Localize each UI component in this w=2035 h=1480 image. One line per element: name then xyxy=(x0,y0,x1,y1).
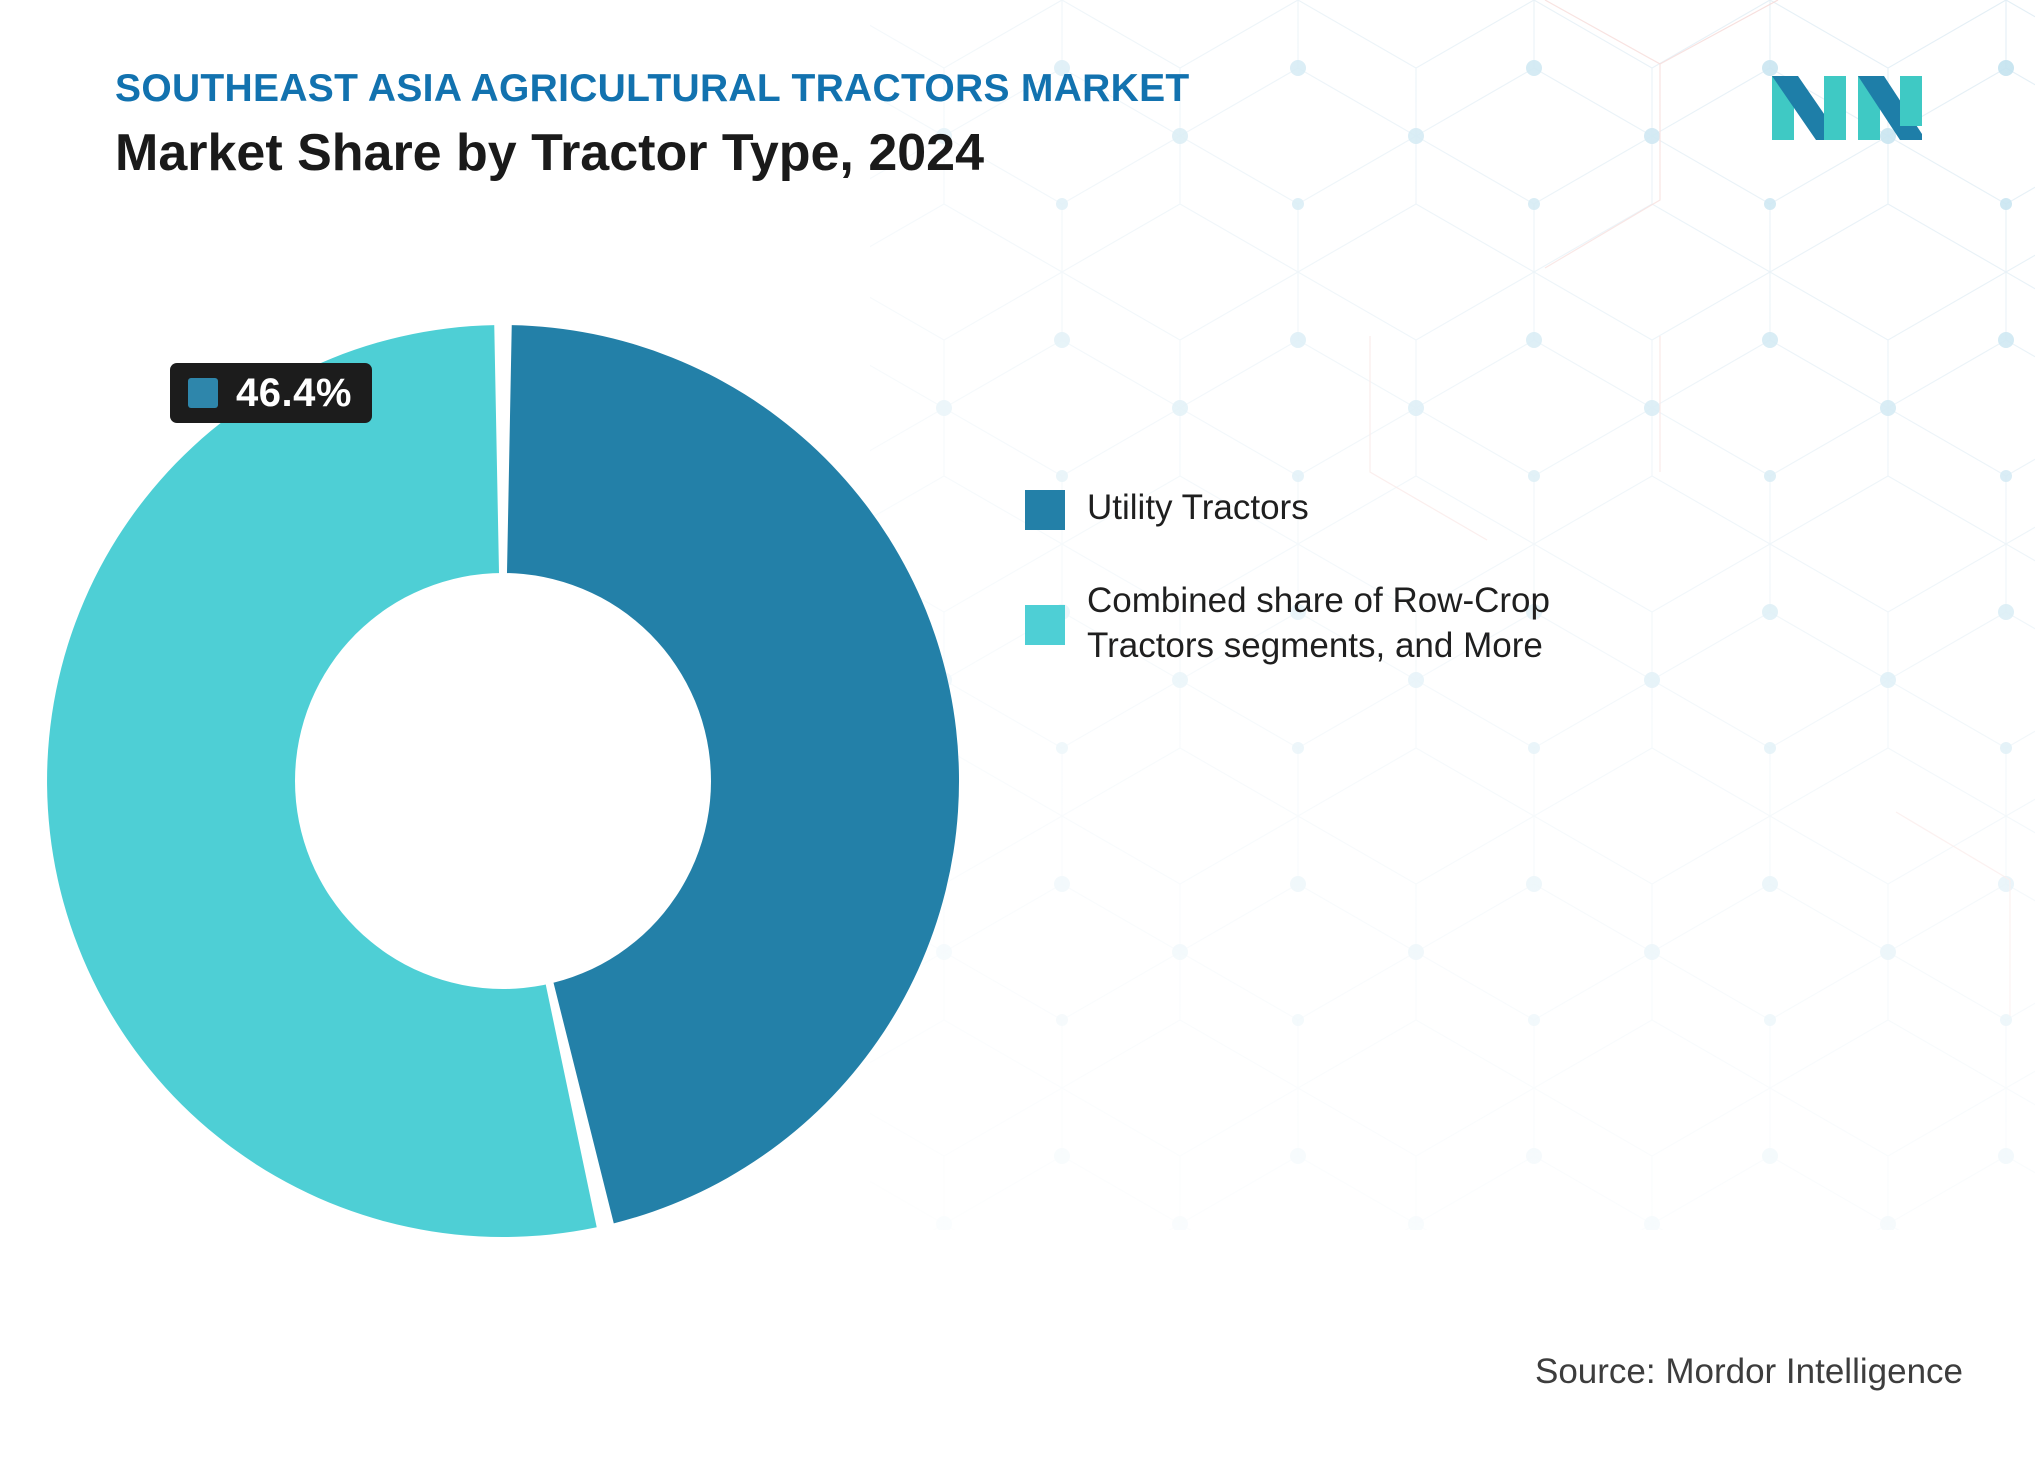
source-attribution: Source: Mordor Intelligence xyxy=(1535,1352,1963,1392)
legend-item-combined-share[interactable]: Combined share of Row-Crop Tractors segm… xyxy=(1025,583,1645,669)
legend-swatch-utility-tractors xyxy=(1025,490,1065,530)
legend-swatch-combined-share xyxy=(1025,605,1065,645)
chart-main-title: Market Share by Tractor Type, 2024 xyxy=(115,125,1415,182)
chart-eyebrow-title: SOUTHEAST ASIA AGRICULTURAL TRACTORS MAR… xyxy=(115,68,1415,111)
callout-value-label: 46.4% xyxy=(236,373,352,413)
donut-chart xyxy=(43,321,963,1241)
callout-color-swatch xyxy=(188,378,218,408)
header: SOUTHEAST ASIA AGRICULTURAL TRACTORS MAR… xyxy=(115,68,1415,182)
legend-label-utility-tractors: Utility Tractors xyxy=(1087,486,1309,531)
value-callout-tooltip[interactable]: 46.4% xyxy=(170,363,372,423)
legend-label-combined-share: Combined share of Row-Crop Tractors segm… xyxy=(1087,579,1607,669)
chart-legend: Utility Tractors Combined share of Row-C… xyxy=(1025,490,1645,720)
donut-center-hole xyxy=(295,573,711,989)
chart-page: SOUTHEAST ASIA AGRICULTURAL TRACTORS MAR… xyxy=(0,0,2035,1480)
donut-chart-svg xyxy=(43,321,963,1241)
legend-item-utility-tractors[interactable]: Utility Tractors xyxy=(1025,490,1645,531)
mordor-intelligence-logo xyxy=(1772,76,1922,140)
